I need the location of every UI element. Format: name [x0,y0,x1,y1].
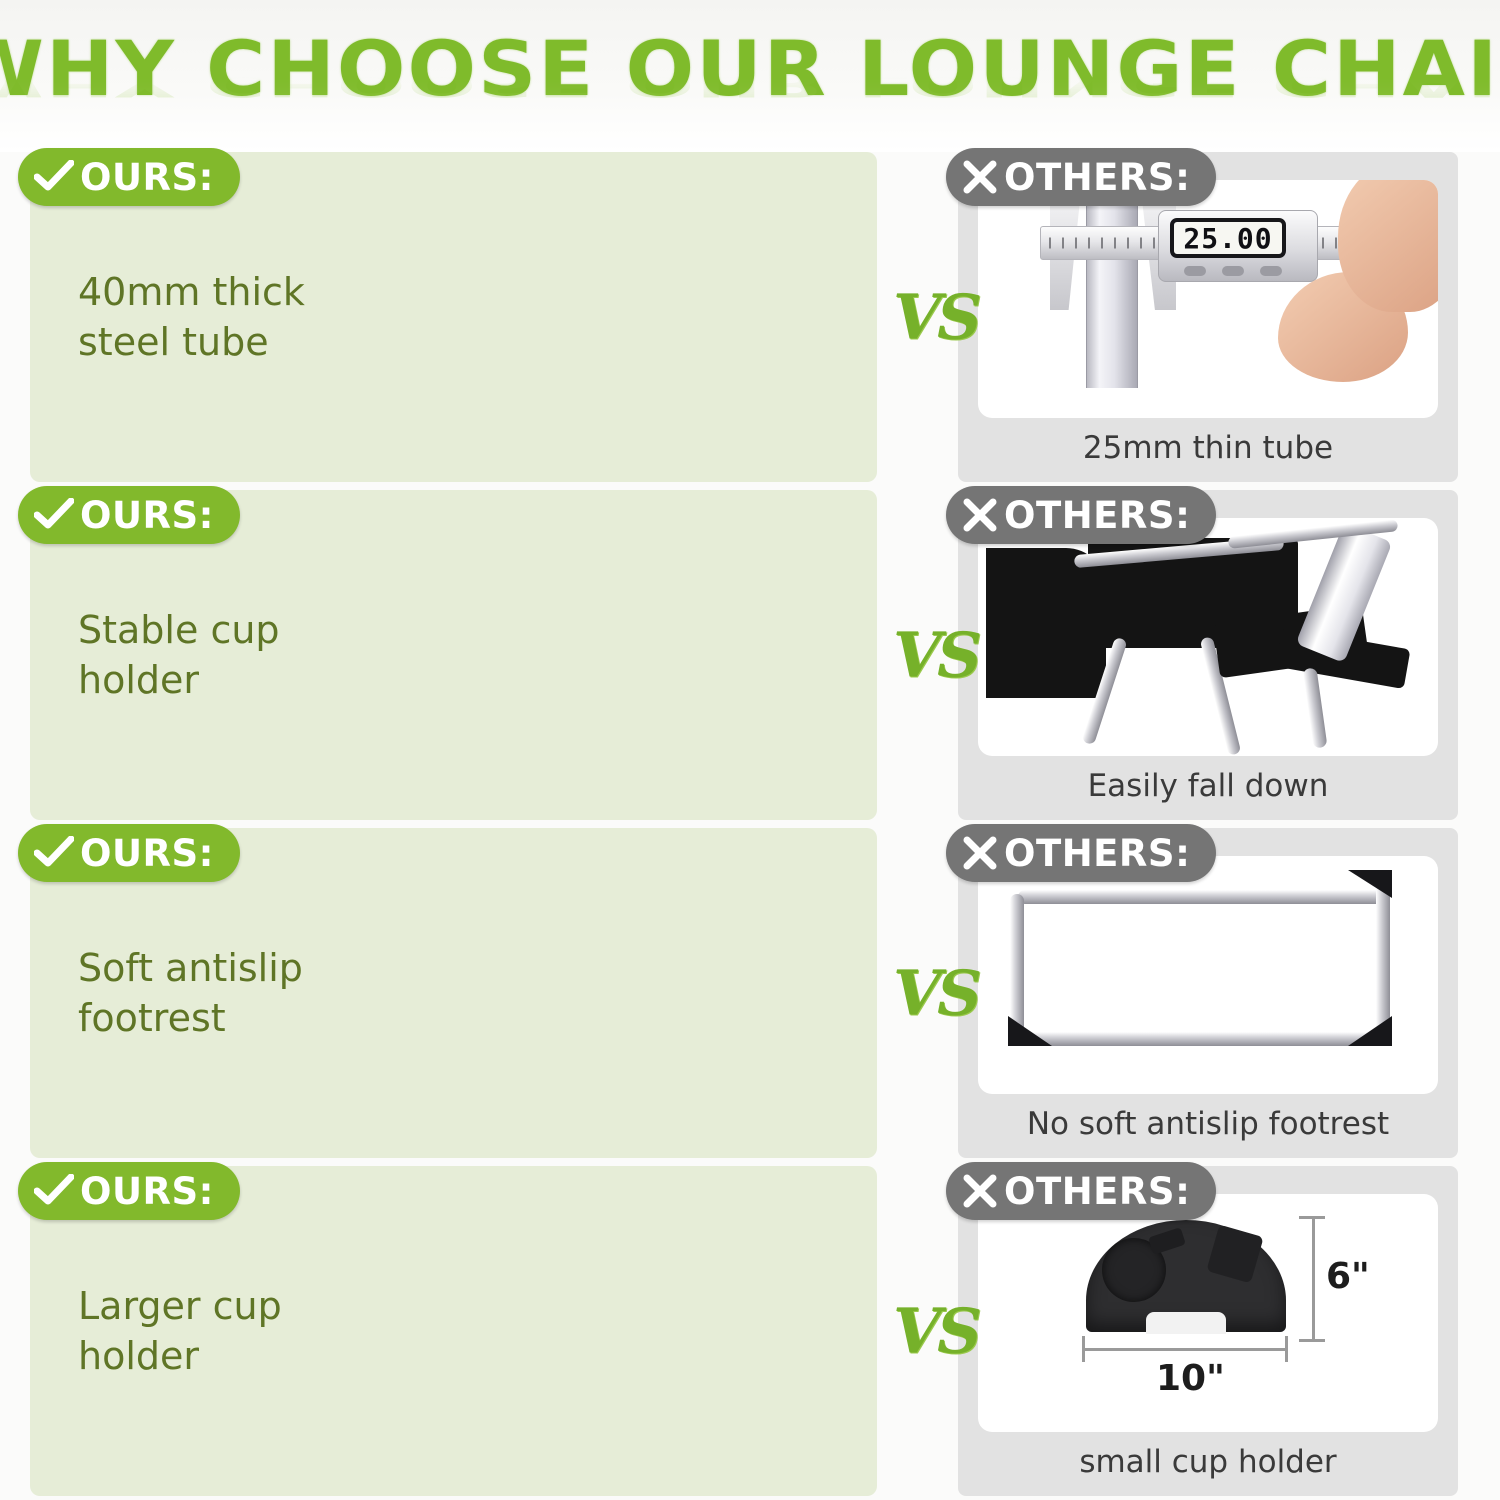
comparison-row-steel-tube: OURS: 40mm thick steel tube 40.00 [0,152,1500,482]
ours-feature-text-cup-holder-stability: Stable cup holder [30,605,330,705]
ours-panel-cup-holder-stability: OURS: Stable cup holder [30,490,877,820]
vs-divider-3: VS [893,957,978,1030]
ours-badge: OURS: [18,824,240,882]
others-badge: OTHERS: [946,824,1216,882]
ours-badge-label: OURS: [80,1170,214,1213]
hand-fingers [1338,180,1438,312]
ours-panel-steel-tube: OURS: 40mm thick steel tube 40.00 [30,152,877,482]
others-photo-small-cup-holder: 10" 6" [978,1194,1438,1432]
ours-badge: OURS: [18,148,240,206]
others-photo-caliper-25mm: 25.00 [978,180,1438,418]
ours-badge-label: OURS: [80,494,214,537]
ours-panel-cup-holder-size: OURS: Larger cup holder [30,1166,877,1496]
others-panel-cup-holder-size: OTHERS: 10" 6" [958,1166,1458,1496]
others-photo-bare-frame [978,856,1438,1094]
check-icon [34,1174,74,1208]
page-header: WHY CHOOSE OUR LOUNGE CHAIR ? WHY CHOOSE… [0,0,1500,152]
others-panel-steel-tube: OTHERS: 25.00 25mm thin tube [958,152,1458,482]
others-badge-label: OTHERS: [1004,494,1190,537]
others-caption-cup-holder-stability: Easily fall down [1088,756,1329,820]
others-caption-footrest: No soft antislip footrest [1027,1094,1389,1158]
dim-line-width [1082,1348,1288,1351]
ours-feature-text-steel-tube: 40mm thick steel tube [30,267,330,367]
dim-label-height-others: 6" [1326,1256,1370,1297]
small-cup-holder-tray [1086,1220,1286,1332]
others-photo-falling-cup-holder [978,518,1438,756]
cross-icon [962,836,998,870]
cross-icon [962,160,998,194]
others-caption-cup-holder-size: small cup holder [1079,1432,1336,1496]
check-icon [34,160,74,194]
check-icon [34,836,74,870]
ours-badge-label: OURS: [80,832,214,875]
others-badge: OTHERS: [946,486,1216,544]
vs-divider-4: VS [893,1295,978,1368]
ours-panel-footrest: OURS: Soft antislip footrest [30,828,877,1158]
ours-feature-text-footrest: Soft antislip footrest [30,943,330,1043]
others-badge: OTHERS: [946,1162,1216,1220]
vs-divider-1: VS [893,281,978,354]
others-badge-label: OTHERS: [1004,1170,1190,1213]
comparison-row-footrest: OURS: Soft antislip footrest VS [0,828,1500,1158]
check-icon [34,498,74,532]
cross-icon [962,1174,998,1208]
ours-badge: OURS: [18,1162,240,1220]
others-badge: OTHERS: [946,148,1216,206]
others-badge-label: OTHERS: [1004,156,1190,199]
others-badge-label: OTHERS: [1004,832,1190,875]
comparison-row-cup-holder-stability: OURS: Stable cup holder [0,490,1500,820]
comparison-row-cup-holder-size: OURS: Larger cup holder [0,1166,1500,1496]
others-panel-cup-holder-stability: OTHERS: Easily fall down [958,490,1458,820]
ours-feature-text-cup-holder-size: Larger cup holder [30,1281,330,1381]
falling-cup [1296,523,1393,663]
dim-label-width-others: 10" [1156,1358,1225,1399]
vs-divider-2: VS [893,619,978,692]
page-title: WHY CHOOSE OUR LOUNGE CHAIR ? [0,24,1500,113]
others-caption-steel-tube: 25mm thin tube [1083,418,1333,482]
dim-line-height [1312,1216,1315,1342]
ours-badge: OURS: [18,486,240,544]
comparison-rows: OURS: 40mm thick steel tube 40.00 [0,152,1500,1496]
ours-badge-label: OURS: [80,156,214,199]
others-panel-footrest: OTHERS: No soft antislip footrest [958,828,1458,1158]
cross-icon [962,498,998,532]
caliper-lcd-others: 25.00 [1170,218,1286,258]
